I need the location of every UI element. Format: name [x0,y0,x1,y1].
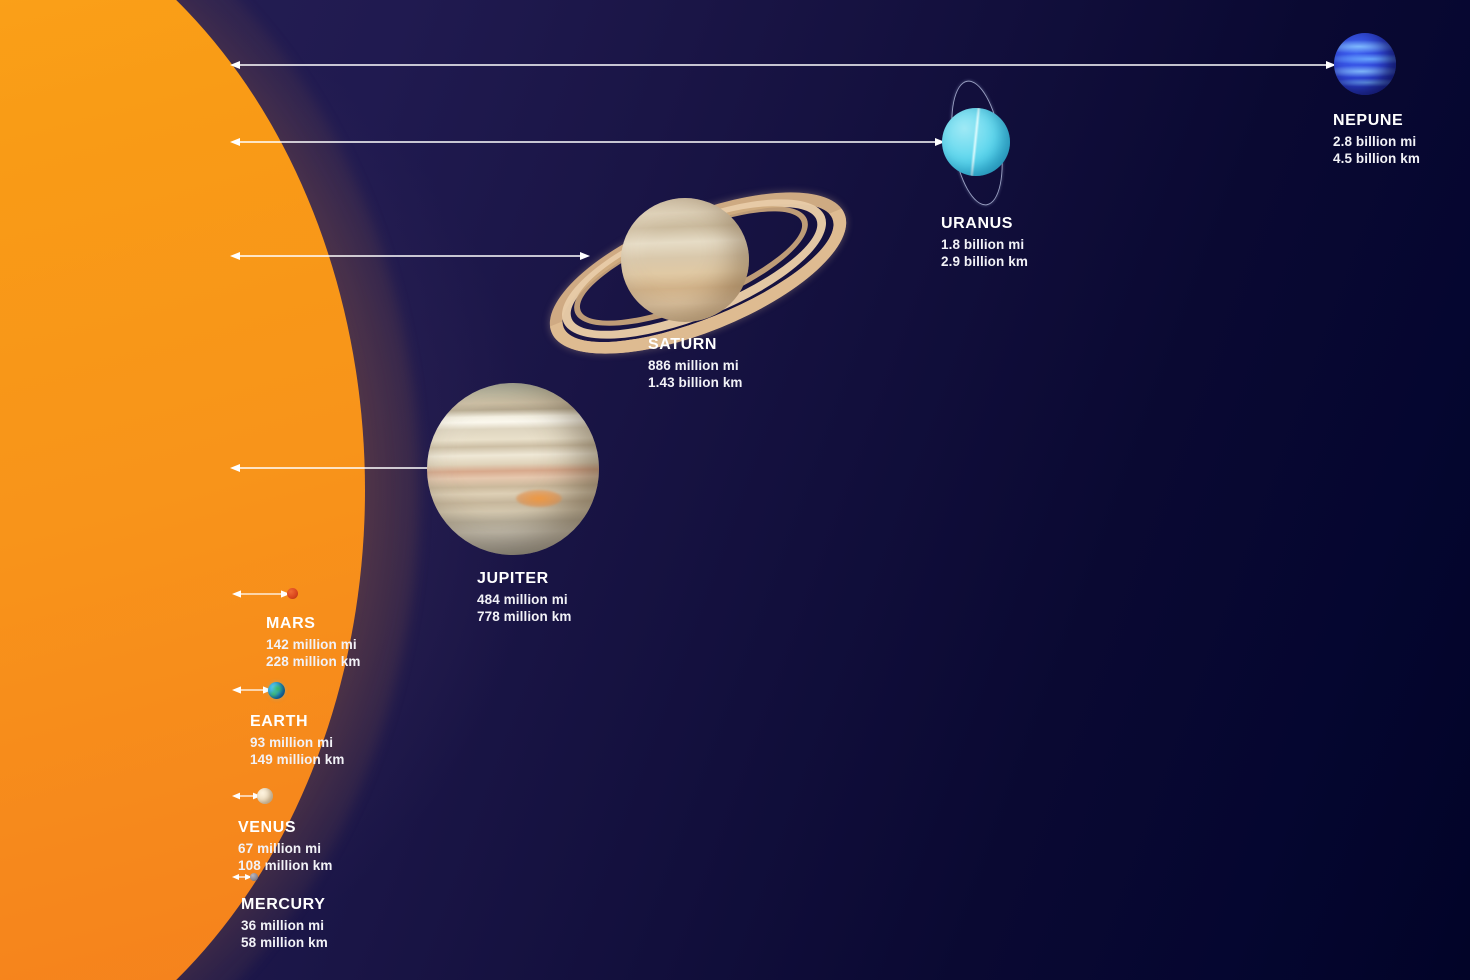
planet-distance-km-venus: 108 million km [238,859,332,873]
planet-distance-km-jupiter: 778 million km [477,610,571,624]
planet-name-mercury: MERCURY [241,897,328,913]
planet-distance-mi-uranus: 1.8 billion mi [941,238,1028,252]
planet-name-jupiter: JUPITER [477,571,571,587]
planet-name-neptune: NEPUNE [1333,113,1420,129]
planet-name-uranus: URANUS [941,216,1028,232]
planet-distance-km-mars: 228 million km [266,655,360,669]
label-mars: MARS 142 million mi 228 million km [266,616,360,671]
planet-jupiter-icon [427,383,599,555]
planet-distance-km-earth: 149 million km [250,753,344,767]
label-jupiter: JUPITER 484 million mi 778 million km [477,571,571,626]
planet-distance-mi-mars: 142 million mi [266,638,360,652]
planet-distance-mi-mercury: 36 million mi [241,919,328,933]
great-red-spot-icon [516,490,562,507]
planet-name-earth: EARTH [250,714,344,730]
planet-distance-km-mercury: 58 million km [241,936,328,950]
planet-distance-km-neptune: 4.5 billion km [1333,152,1420,166]
planet-neptune-icon [1334,33,1396,95]
label-neptune: NEPUNE 2.8 billion mi 4.5 billion km [1333,113,1420,168]
planet-uranus-group [935,78,1017,206]
planet-distance-mi-earth: 93 million mi [250,736,344,750]
planet-venus-icon [257,788,273,804]
label-uranus: URANUS 1.8 billion mi 2.9 billion km [941,216,1028,271]
planet-distance-km-uranus: 2.9 billion km [941,255,1028,269]
planet-name-mars: MARS [266,616,360,632]
planet-uranus-icon [942,108,1010,176]
planet-distance-mi-neptune: 2.8 billion mi [1333,135,1420,149]
planet-mars-icon [287,588,298,599]
infographic-canvas: NEPUNE 2.8 billion mi 4.5 billion km URA… [0,0,1470,980]
distance-arrow-neptune [230,58,1336,72]
planet-saturn-group [535,165,835,355]
label-earth: EARTH 93 million mi 149 million km [250,714,344,769]
label-mercury: MERCURY 36 million mi 58 million km [241,897,328,952]
planet-name-saturn: SATURN [648,337,743,353]
label-venus: VENUS 67 million mi 108 million km [238,820,332,875]
planet-earth-icon [268,682,285,699]
planet-distance-mi-saturn: 886 million mi [648,359,743,373]
label-saturn: SATURN 886 million mi 1.43 billion km [648,337,743,392]
planet-distance-km-saturn: 1.43 billion km [648,376,743,390]
planet-distance-mi-venus: 67 million mi [238,842,332,856]
planet-distance-mi-jupiter: 484 million mi [477,593,571,607]
planet-name-venus: VENUS [238,820,332,836]
